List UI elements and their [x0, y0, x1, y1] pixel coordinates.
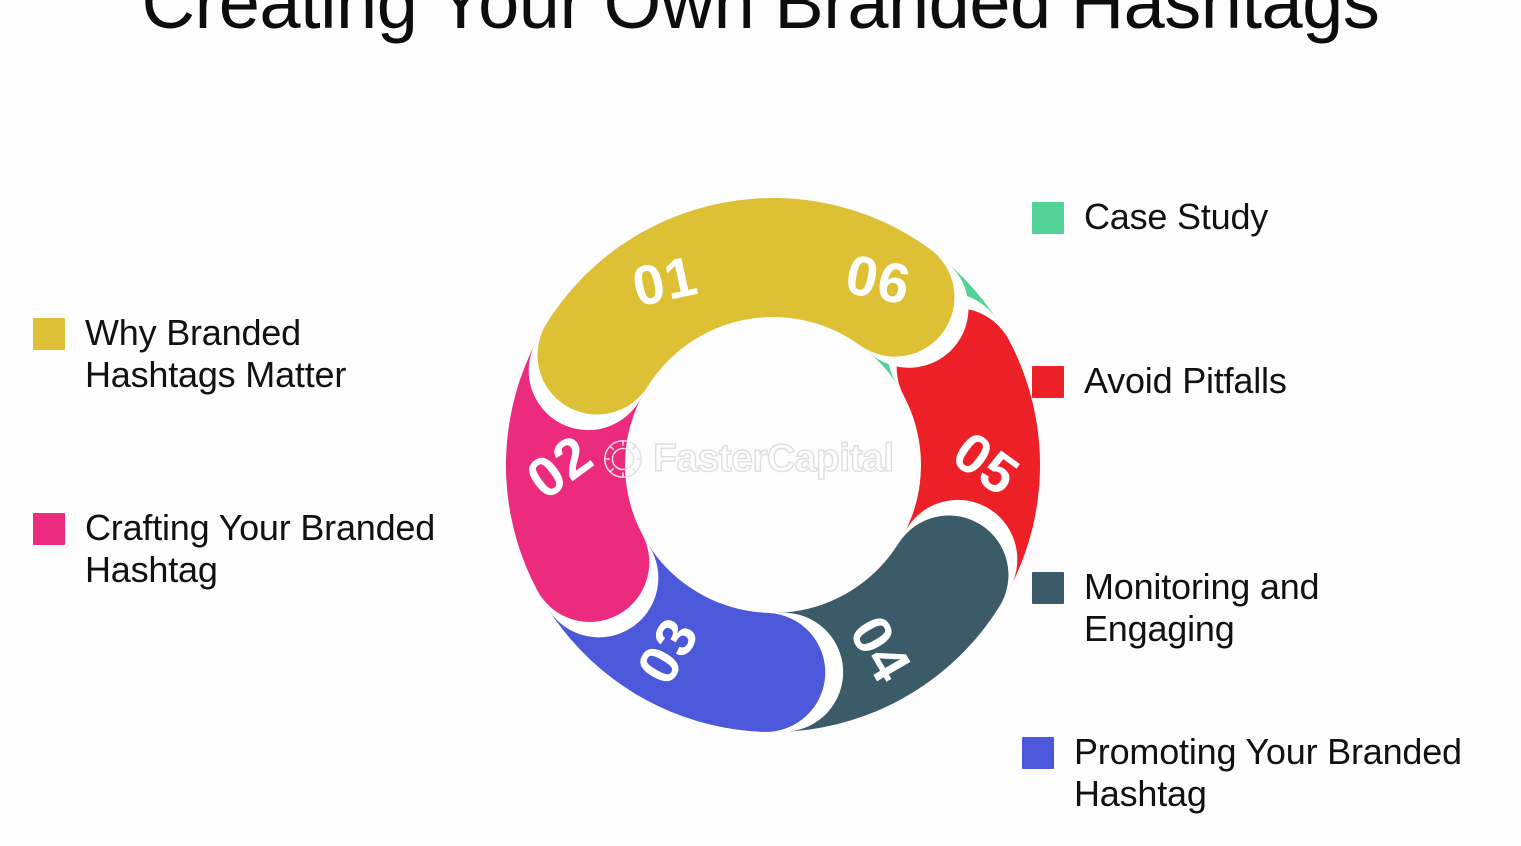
legend-label-why-branded-hashtags-matter: Why Branded Hashtags Matter — [85, 312, 453, 396]
legend-label-avoid-pitfalls: Avoid Pitfalls — [1084, 360, 1287, 402]
page-title: Creating Your Own Branded Hashtags — [0, 0, 1521, 45]
legend-item-crafting-your-branded-hashtag[interactable]: Crafting Your Branded Hashtag — [33, 507, 513, 591]
legend-item-promoting-your-branded-hashtag[interactable]: Promoting Your Branded Hashtag — [1022, 731, 1492, 815]
donut-segment-number-01: 01 — [627, 243, 703, 318]
legend-label-monitoring-and-engaging: Monitoring and Engaging — [1084, 566, 1472, 650]
legend-label-case-study: Case Study — [1084, 196, 1268, 238]
donut-chart-svg: 060504030201 — [488, 180, 1058, 750]
infographic-canvas: Creating Your Own Branded Hashtags Why B… — [0, 0, 1521, 846]
legend-label-crafting-your-branded-hashtag: Crafting Your Branded Hashtag — [85, 507, 513, 591]
donut-center-hole — [627, 319, 919, 611]
legend-label-promoting-your-branded-hashtag: Promoting Your Branded Hashtag — [1074, 731, 1492, 815]
donut-segment-number-06: 06 — [841, 242, 917, 317]
legend-item-case-study[interactable]: Case Study — [1032, 196, 1472, 238]
donut-chart: 060504030201 — [488, 180, 1058, 750]
legend-item-why-branded-hashtags-matter[interactable]: Why Branded Hashtags Matter — [33, 312, 453, 396]
legend-swatch-yellow — [33, 318, 65, 350]
legend-item-avoid-pitfalls[interactable]: Avoid Pitfalls — [1032, 360, 1472, 402]
legend-swatch-pink — [33, 513, 65, 545]
legend-item-monitoring-and-engaging[interactable]: Monitoring and Engaging — [1032, 566, 1472, 650]
